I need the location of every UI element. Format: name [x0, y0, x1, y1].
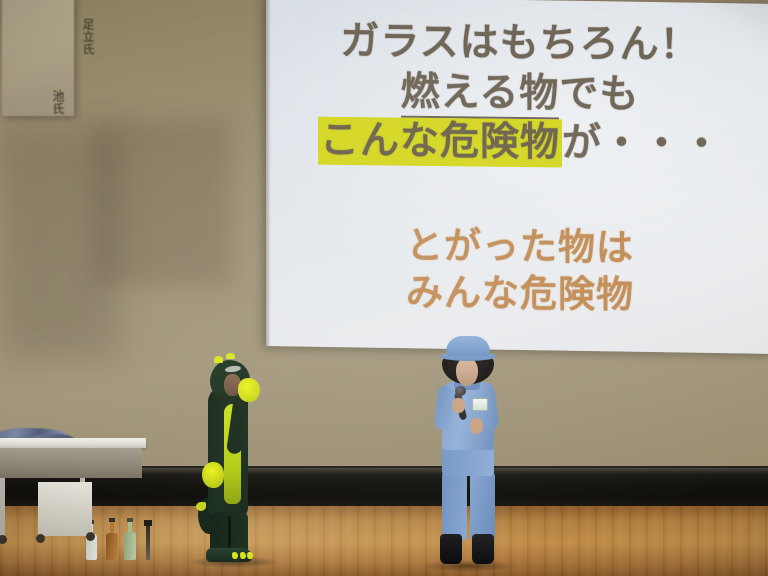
- wall-vignette: [0, 0, 768, 576]
- photo-scene: 池氏 足立氏 ガラスはもちろん！ 燃える物でも こんな危険物が・・・ とがった物…: [0, 0, 768, 576]
